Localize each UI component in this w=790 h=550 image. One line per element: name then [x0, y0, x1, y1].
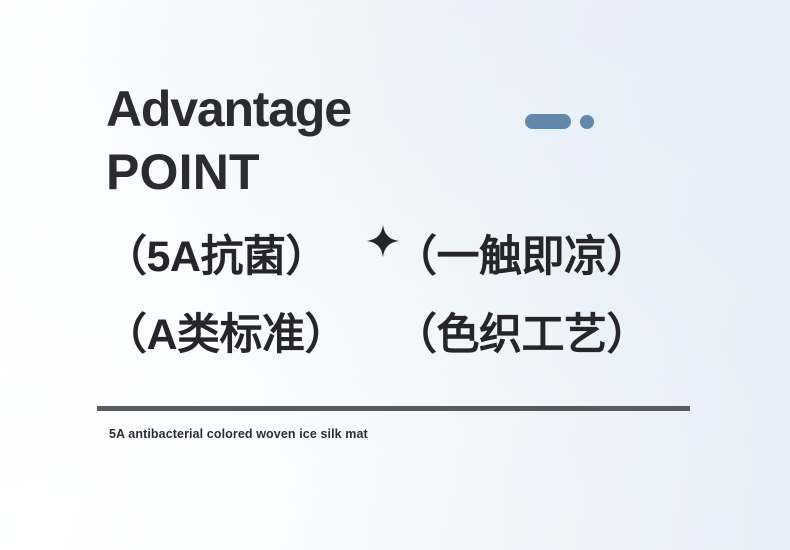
caption-text: 5A antibacterial colored woven ice silk … — [109, 427, 368, 441]
feature-label: （色织工艺） — [394, 311, 649, 359]
feature-item-yarn-dyed-craft: （色织工艺） — [394, 314, 664, 357]
dash-icon — [525, 114, 571, 129]
feature-item-antibacterial: （5A抗菌） — [104, 236, 394, 279]
decorative-marker — [525, 114, 594, 129]
feature-item-instant-cool: （一触即凉） — [394, 236, 664, 279]
feature-list: （5A抗菌） （一触即凉） （A类标准） （色织工艺） — [104, 236, 664, 392]
poster-canvas: Advantage POINT （5A抗菌） （一触即凉） — [0, 0, 790, 550]
page-title: Advantage POINT — [106, 84, 351, 197]
feature-label: （一触即凉） — [394, 233, 649, 281]
feature-label: （5A抗菌） — [104, 233, 328, 281]
feature-row: （A类标准） （色织工艺） — [104, 314, 664, 392]
feature-row: （5A抗菌） （一触即凉） — [104, 236, 664, 314]
dot-icon — [580, 115, 594, 129]
feature-item-class-a-standard: （A类标准） — [104, 314, 394, 357]
feature-label: （A类标准） — [104, 311, 347, 359]
divider — [97, 406, 690, 411]
headline-line-1: Advantage — [106, 84, 351, 134]
headline-line-2: POINT — [106, 147, 351, 197]
